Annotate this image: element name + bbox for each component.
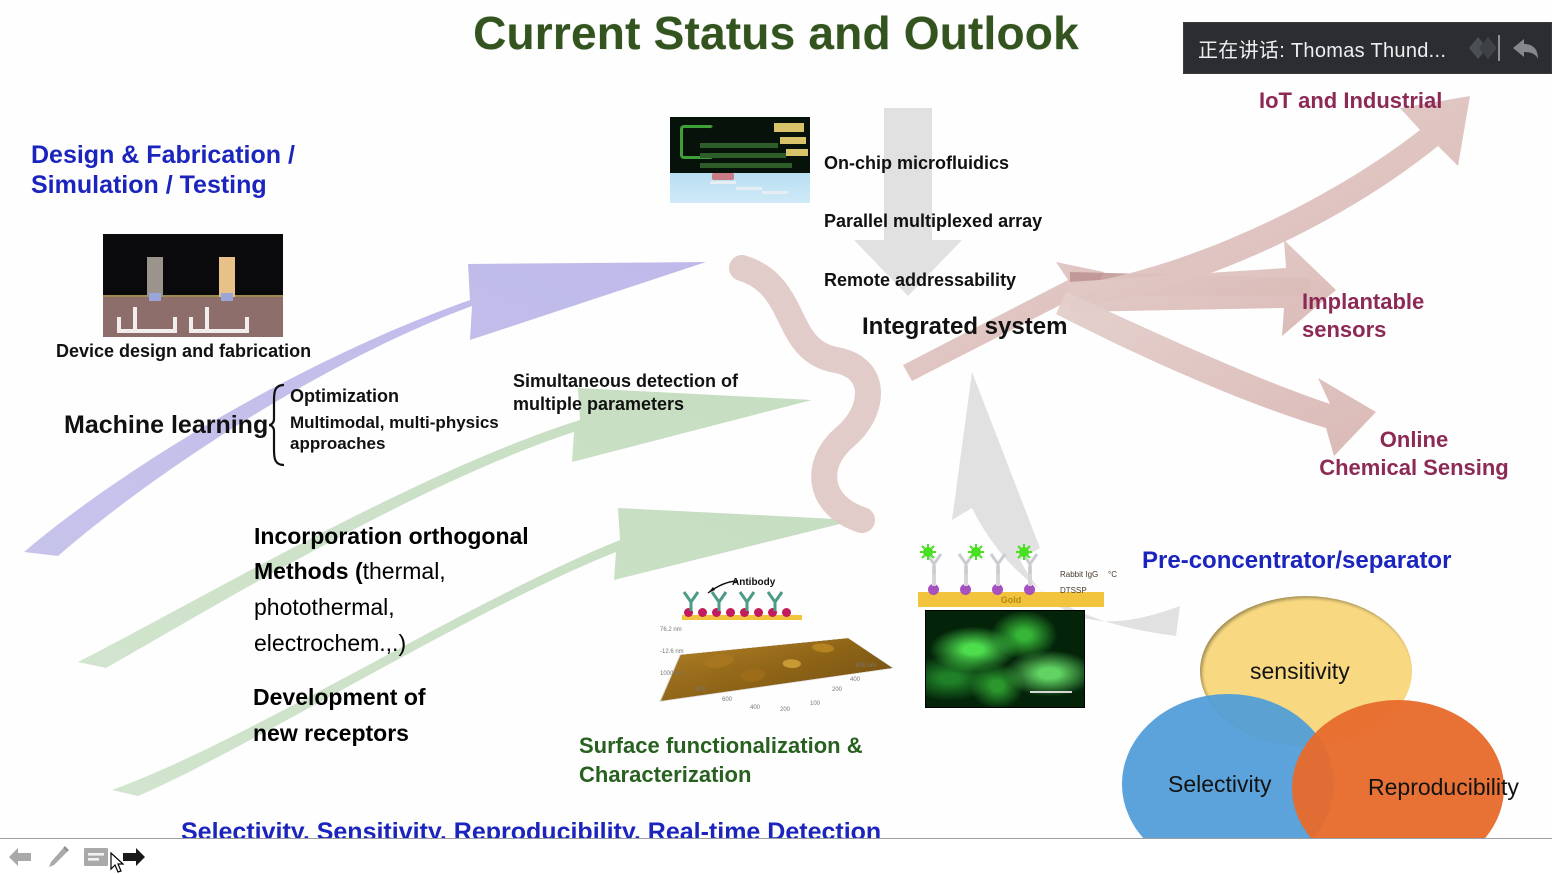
online-chemical-sensing-label: Online Chemical Sensing: [1306, 426, 1522, 482]
simultaneous-detection-label: Simultaneous detection of multiple param…: [513, 370, 738, 417]
afm-axis-label-5: 600: [722, 697, 732, 703]
surface-functionalization-heading: Surface functionalization & Characteriza…: [579, 731, 863, 790]
presentation-slide: Current Status and Outlook Design & Fabr…: [0, 0, 1552, 874]
device-image-caption: Device design and fabrication: [56, 341, 311, 362]
venn-label-sensitivity: sensitivity: [1250, 658, 1350, 685]
iot-industrial-label: IoT and Industrial: [1259, 88, 1442, 114]
antibody-label: Antibody: [732, 577, 775, 588]
active-speaker-label: 正在讲话: Thomas Thund...: [1198, 34, 1446, 63]
afm-axis-label-10: 400: [850, 677, 860, 683]
gold-dtssp-schematic: Gold Rabbit IgG DTSSP °C: [912, 548, 1122, 610]
venn-label-reproducibility: Reproducibility: [1368, 774, 1519, 801]
afm-axis-label-9: 200: [832, 687, 842, 693]
pencil-annotate-icon[interactable]: [43, 843, 73, 871]
pink-arrow-iot: [1068, 96, 1470, 308]
afm-axis-label-2: -12.6 nm: [660, 649, 684, 655]
previous-slide-arrow-icon[interactable]: [5, 843, 35, 871]
venn-diagram: sensitivity Selectivity Reproducibility: [1122, 596, 1542, 874]
implantable-sensors-label: Implantable sensors: [1302, 288, 1424, 344]
afm-axis-label-4: 800: [696, 687, 706, 693]
microfluidic-chip-image: [670, 117, 810, 203]
integrated-system-label: Integrated system: [862, 313, 1067, 341]
onchip-bullet-1: On-chip microfluidics: [824, 149, 1042, 178]
rabbit-igg-label: Rabbit IgG: [1060, 570, 1098, 579]
machine-learning-label: Machine learning: [64, 411, 268, 440]
maroon-crossbar: [1070, 272, 1310, 296]
afm-axis-label-1: 76.2 nm: [660, 627, 682, 633]
onchip-bullet-2: Parallel multiplexed array: [824, 207, 1042, 236]
onchip-bullet-3: Remote addressability: [824, 266, 1042, 295]
development-new-receptors: Development of new receptors: [253, 680, 426, 751]
mouse-cursor-icon: [110, 852, 126, 874]
speaker-overlay-icons: [1465, 33, 1551, 63]
afm-axis-label-3: 1000 nm: [660, 671, 683, 677]
ml-bullet-multimodal: Multimodal, multi-physics approaches: [290, 413, 499, 454]
preconcentrator-separator-label: Pre-concentrator/separator: [1142, 547, 1451, 575]
ml-bracket-icon: [268, 383, 288, 467]
device-cross-section-image: [103, 234, 283, 337]
gold-label: Gold: [1001, 595, 1022, 605]
afm-axis-label-7: 200: [780, 707, 790, 713]
presentation-toolbar: [0, 838, 1552, 874]
venn-label-selectivity: Selectivity: [1168, 771, 1272, 798]
afm-axis-label-8: 100: [810, 701, 820, 707]
layers-cards-icon[interactable]: [1465, 33, 1507, 63]
afm-axis-label-6: 400: [750, 705, 760, 711]
incorporation-orthogonal-methods: Incorporation orthogonal Methods (therma…: [254, 483, 529, 661]
design-fabrication-heading: Design & Fabrication / Simulation / Test…: [31, 140, 295, 200]
fluorescence-microscopy-image: [925, 610, 1085, 708]
reply-back-arrow-icon[interactable]: [1511, 34, 1541, 62]
afm-antibody-figure: Antibody 76.2 nm -12.6 nm 1000 nm 800 nm…: [660, 575, 900, 715]
dtssp-label: DTSSP: [1060, 586, 1087, 595]
active-speaker-overlay[interactable]: 正在讲话: Thomas Thund...: [1183, 22, 1552, 74]
notes-panel-icon[interactable]: [81, 843, 111, 871]
afm-axis-label-12: 800 nm: [856, 663, 876, 669]
onchip-bullet-list: On-chip microfluidics Parallel multiplex…: [824, 120, 1042, 324]
temperature-label: °C: [1108, 570, 1117, 579]
ml-bullet-optimization: Optimization: [290, 386, 399, 408]
pink-arrow-implantable: [1068, 240, 1336, 336]
